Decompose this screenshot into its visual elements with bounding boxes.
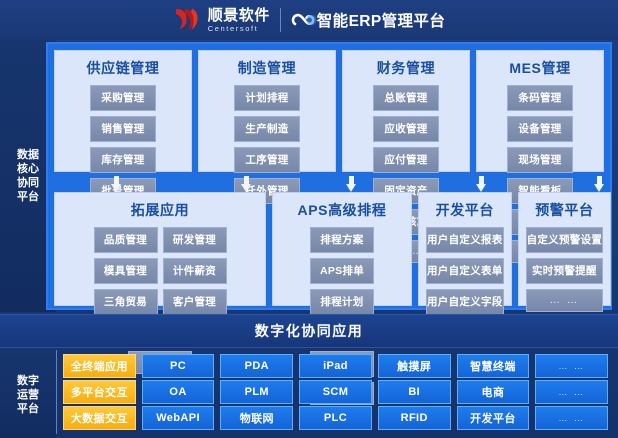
terminal-cell[interactable]: 开发平台 — [457, 406, 530, 430]
chip-item[interactable]: 采购管理 — [90, 85, 156, 111]
arrow-down-icon — [346, 176, 357, 192]
chip-item-more[interactable]: … … — [526, 289, 604, 312]
brand-name-en: Centersoft — [208, 25, 270, 33]
rail-digital-ops-label: 数字运营平台 — [13, 374, 43, 416]
terminal-cell[interactable]: SCM — [299, 380, 372, 404]
chip-item[interactable]: 模具管理 — [94, 258, 158, 284]
chip-item[interactable]: 三角贸易 — [94, 289, 158, 315]
terminal-cell-more[interactable]: … … — [535, 354, 608, 378]
terminal-cell[interactable]: WebAPI — [142, 406, 215, 430]
terminal-cell[interactable]: PDA — [220, 354, 293, 378]
chip-group: 计划排程 生产制造 工序管理 托外管理 — [206, 85, 328, 204]
terminal-cell[interactable]: PC — [142, 354, 215, 378]
chip-item[interactable]: 研发管理 — [163, 227, 227, 253]
card-dev-platform[interactable]: 开发平台 用户自定义报表 用户自定义表单 用户自定义字段 — [418, 192, 512, 306]
card-supply-chain[interactable]: 供应链管理 采购管理 销售管理 库存管理 批号管理 — [54, 50, 192, 172]
terminal-row-all-terminals: 全终端应用 PC PDA iPad 触摸屏 智慧终端 … … — [63, 354, 608, 378]
card-title: 开发平台 — [436, 200, 494, 220]
terminal-row-tag[interactable]: 全终端应用 — [63, 354, 136, 378]
chip-item[interactable]: 设备管理 — [507, 116, 573, 142]
chip-item[interactable]: 现场管理 — [507, 147, 573, 173]
module-row-bottom: 拓展应用 品质管理 研发管理 模具管理 计件薪资 三角贸易 客户管理 售后服务 … — [48, 192, 610, 306]
digital-collaboration-title: 数字化协同应用 — [255, 321, 364, 341]
chip-item[interactable]: 计件薪资 — [163, 258, 227, 284]
chip-item[interactable]: 计划排程 — [234, 85, 300, 111]
chip-group: 采购管理 销售管理 库存管理 批号管理 — [62, 85, 184, 204]
card-finance[interactable]: 财务管理 总账管理 应收管理 应付管理 固定资产 成本核算 … … — [342, 50, 470, 172]
card-extended-apps[interactable]: 拓展应用 品质管理 研发管理 模具管理 计件薪资 三角贸易 客户管理 售后服务 … — [54, 192, 266, 306]
chip-item[interactable]: 用户自定义表单 — [426, 258, 504, 284]
brand-name-cn: 顺景软件 — [208, 8, 270, 23]
header-divider — [280, 8, 281, 32]
terminal-cell[interactable]: BI — [378, 380, 451, 404]
terminal-row-multi-platform: 多平台交互 OA PLM SCM BI 电商 … … — [63, 380, 608, 404]
arrow-down-icon — [111, 176, 122, 192]
brand-text: 顺景软件 Centersoft — [208, 8, 270, 33]
chip-item[interactable]: 应付管理 — [373, 147, 439, 173]
chip-item[interactable]: 品质管理 — [94, 227, 158, 253]
card-title: 预警平台 — [535, 200, 593, 220]
card-aps-scheduling[interactable]: APS高级排程 排程方案 APS排单 排程计划 排程小票 资源任务 … … — [272, 192, 412, 306]
terminal-cell[interactable]: OA — [142, 380, 215, 404]
terminal-cell-more[interactable]: … … — [535, 380, 608, 404]
chip-item[interactable]: 排程计划 — [310, 289, 374, 315]
chip-group: 自定义预警设置 实时预警提醒 … … — [526, 227, 604, 312]
terminal-matrix: 全终端应用 PC PDA iPad 触摸屏 智慧终端 … … 多平台交互 OA … — [56, 350, 612, 434]
chip-item[interactable]: 用户自定义报表 — [426, 227, 504, 253]
digital-collaboration-bar: 数字化协同应用 — [0, 314, 618, 348]
terminal-cell[interactable]: iPad — [299, 354, 372, 378]
terminal-row-big-data: 大数据交互 WebAPI 物联网 PLC RFID 开发平台 … … — [63, 406, 608, 430]
main-module-panel: 供应链管理 采购管理 销售管理 库存管理 批号管理 制造管理 计划排程 生产制造… — [46, 42, 612, 310]
chip-group: 用户自定义报表 用户自定义表单 用户自定义字段 — [426, 227, 504, 315]
chip-item[interactable]: APS排单 — [310, 258, 374, 284]
chip-item[interactable]: 实时预警提醒 — [526, 258, 604, 284]
terminal-cell[interactable]: 触摸屏 — [378, 354, 451, 378]
arrow-down-icon — [476, 176, 487, 192]
terminal-cell[interactable]: PLC — [299, 406, 372, 430]
terminal-row-tag[interactable]: 多平台交互 — [63, 380, 136, 404]
chip-item[interactable]: 总账管理 — [373, 85, 439, 111]
card-title: APS高级排程 — [298, 200, 387, 220]
terminal-cell[interactable]: 物联网 — [220, 406, 293, 430]
card-title: 制造管理 — [238, 58, 296, 78]
header-slogan: 智能ERP管理平台 — [317, 9, 445, 31]
terminal-cell-more[interactable]: … … — [535, 406, 608, 430]
arrow-down-icon — [594, 176, 605, 192]
page-header: 顺景软件 Centersoft 智能ERP管理平台 — [0, 0, 618, 40]
card-title: 财务管理 — [377, 58, 435, 78]
rail-digital-ops-platform: 数字运营平台 — [0, 352, 56, 438]
terminal-cell[interactable]: 电商 — [457, 380, 530, 404]
terminal-row-tag[interactable]: 大数据交互 — [63, 406, 136, 430]
chip-item[interactable]: 生产制造 — [234, 116, 300, 142]
chip-item[interactable]: 用户自定义字段 — [426, 289, 504, 315]
chip-item[interactable]: 自定义预警设置 — [526, 227, 604, 253]
chip-item[interactable]: 工序管理 — [234, 147, 300, 173]
card-mes[interactable]: MES管理 条码管理 设备管理 现场管理 智能看板 智能报工 … … — [476, 50, 604, 172]
chip-item[interactable]: 客户管理 — [163, 289, 227, 315]
card-title: MES管理 — [509, 58, 570, 78]
card-alert-platform[interactable]: 预警平台 自定义预警设置 实时预警提醒 … … — [518, 192, 612, 306]
card-title: 拓展应用 — [131, 200, 189, 220]
module-row-top: 供应链管理 采购管理 销售管理 库存管理 批号管理 制造管理 计划排程 生产制造… — [48, 50, 610, 172]
chip-item[interactable]: 应收管理 — [373, 116, 439, 142]
brand-logo: 顺景软件 Centersoft — [173, 7, 270, 33]
s9-infinity-logo-icon — [291, 10, 317, 30]
card-manufacturing[interactable]: 制造管理 计划排程 生产制造 工序管理 托外管理 — [198, 50, 336, 172]
terminal-cell[interactable]: PLM — [220, 380, 293, 404]
rail-data-core-label: 数据核心协同平台 — [13, 148, 43, 204]
terminal-cell[interactable]: 智慧终端 — [457, 354, 530, 378]
chip-item[interactable]: 库存管理 — [90, 147, 156, 173]
chip-item[interactable]: 条码管理 — [507, 85, 573, 111]
arrow-down-icon — [241, 176, 252, 192]
erp-architecture-diagram: 顺景软件 Centersoft 智能ERP管理平台 数据核心协同平台 数字运营平… — [0, 0, 618, 438]
centersoft-flame-logo-icon — [173, 7, 199, 33]
chip-item[interactable]: 销售管理 — [90, 116, 156, 142]
chip-item[interactable]: 排程方案 — [310, 227, 374, 253]
card-title: 供应链管理 — [87, 58, 160, 78]
terminal-cell[interactable]: RFID — [378, 406, 451, 430]
